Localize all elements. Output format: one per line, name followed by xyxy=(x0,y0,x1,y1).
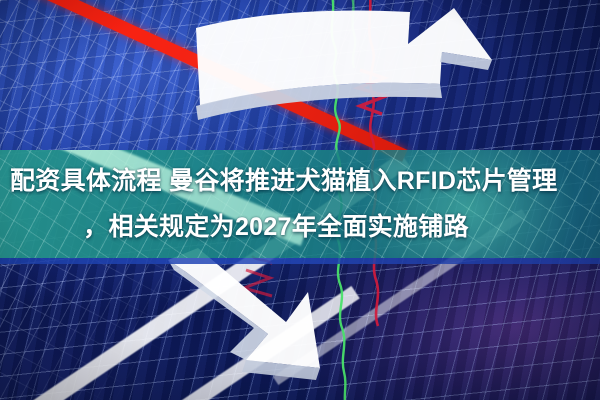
news-thumbnail-banner: 配资具体流程 曼谷将推进犬猫植入RFID芯片管理 ，相关规定为2027年全面实施… xyxy=(0,0,600,400)
vignette-overlay xyxy=(0,0,600,400)
